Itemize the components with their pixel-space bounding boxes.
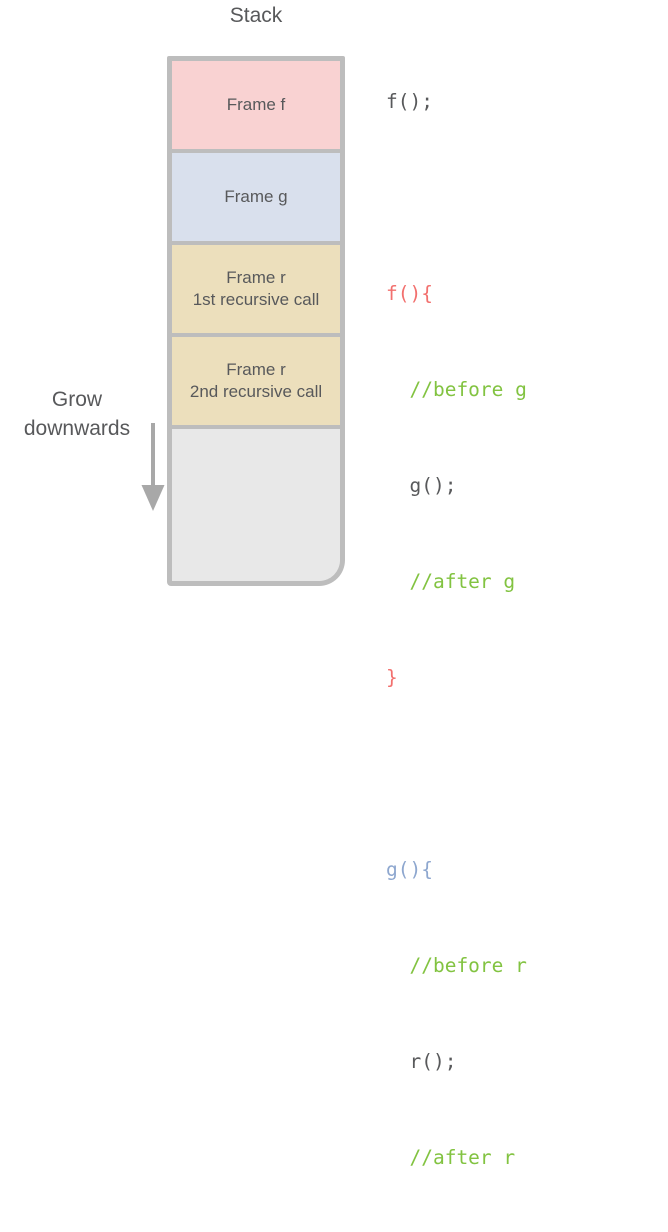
frame-g-label: Frame g	[224, 186, 287, 208]
stack-frame-g: Frame g	[172, 153, 340, 245]
code-line-11: r();	[386, 1046, 668, 1078]
code-panel: f(); f(){ //before g g(); //after g } g(…	[386, 22, 668, 1232]
code-line-12: //after r	[386, 1142, 668, 1174]
code-line-7: }	[386, 662, 668, 694]
code-line-8	[386, 758, 668, 790]
frame-r2-label: Frame r	[226, 359, 286, 381]
stack-frame-f: Frame f	[172, 61, 340, 153]
code-line-3: f(){	[386, 278, 668, 310]
grow-downwards-label: Grow downwards	[10, 385, 144, 443]
code-line-4: //before g	[386, 374, 668, 406]
stack-frame-r-second: Frame r 2nd recursive call	[172, 337, 340, 429]
stack-title: Stack	[167, 4, 345, 28]
code-line-6: //after g	[386, 566, 668, 598]
stack-frame-r-first: Frame r 1st recursive call	[172, 245, 340, 337]
code-line-10: //before r	[386, 950, 668, 982]
frame-r1-label: Frame r	[226, 267, 286, 289]
grow-label-line1: Grow	[52, 388, 102, 411]
stack-container: Frame f Frame g Frame r 1st recursive ca…	[167, 56, 345, 586]
code-line-5: g();	[386, 470, 668, 502]
arrow-down-icon	[138, 423, 168, 513]
stack-frame-empty	[172, 429, 340, 581]
frame-r2-sublabel: 2nd recursive call	[190, 381, 322, 403]
frame-f-label: Frame f	[227, 94, 286, 116]
code-line-9: g(){	[386, 854, 668, 886]
code-line-1: f();	[386, 86, 668, 118]
frame-r1-sublabel: 1st recursive call	[193, 289, 320, 311]
grow-label-line2: downwards	[24, 417, 130, 440]
code-line-2	[386, 182, 668, 214]
